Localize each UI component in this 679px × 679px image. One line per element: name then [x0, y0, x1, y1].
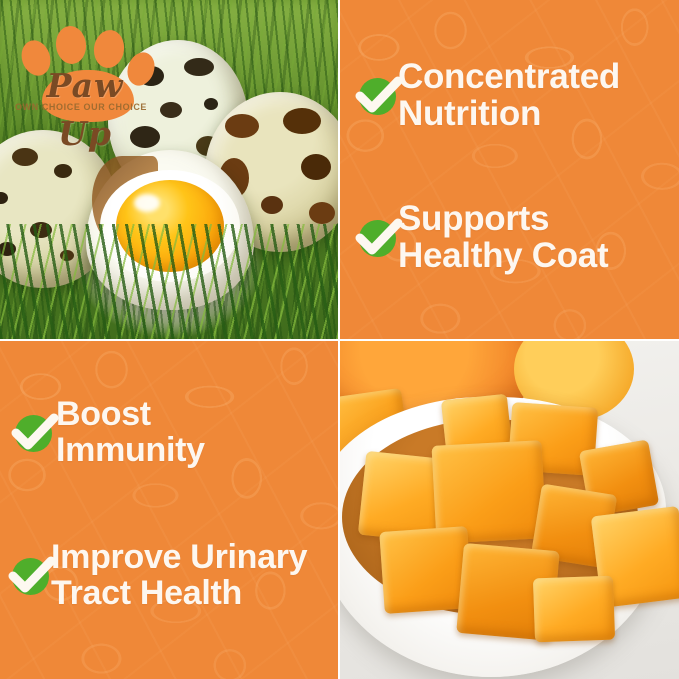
benefit-label: Boost Immunity [56, 396, 205, 468]
green-check-icon [352, 69, 404, 121]
benefit-item-boost-immunity: Boost Immunity [8, 396, 205, 468]
produce-outline-pattern [0, 339, 338, 679]
logo-tagline: OWN CHOICE OUR CHOICE [10, 102, 152, 112]
benefit-label: Improve Urinary Tract Health [51, 539, 307, 611]
benefit-item-supports-healthy-coat: Supports Healthy Coat [352, 200, 608, 274]
green-check-icon [5, 549, 57, 601]
panel-benefits-bottom-left: Boost Immunity Improve Urinary Tract Hea… [0, 339, 338, 679]
benefit-label: Supports Healthy Coat [398, 200, 608, 274]
yolk-highlight [134, 194, 160, 212]
green-check-icon [8, 406, 60, 458]
benefit-item-concentrated-nutrition: Concentrated Nutrition [352, 58, 620, 132]
benefit-item-improve-urinary-tract-health: Improve Urinary Tract Health [5, 539, 307, 611]
panel-egg-photo: Paw Up OWN CHOICE OUR CHOICE [0, 0, 338, 339]
panel-pumpkin-photo [338, 339, 679, 679]
green-check-icon [352, 211, 404, 263]
produce-outline-pattern [338, 0, 679, 339]
panel-divider-horizontal [0, 339, 679, 341]
product-benefits-infographic: Paw Up OWN CHOICE OUR CHOICE Concentrate… [0, 0, 679, 679]
pumpkin-cube [533, 576, 615, 643]
brand-logo: Paw Up OWN CHOICE OUR CHOICE [8, 18, 154, 126]
grass-foreground [0, 224, 338, 339]
benefit-label: Concentrated Nutrition [398, 58, 620, 132]
panel-benefits-top-right: Concentrated Nutrition Supports Healthy … [338, 0, 679, 339]
